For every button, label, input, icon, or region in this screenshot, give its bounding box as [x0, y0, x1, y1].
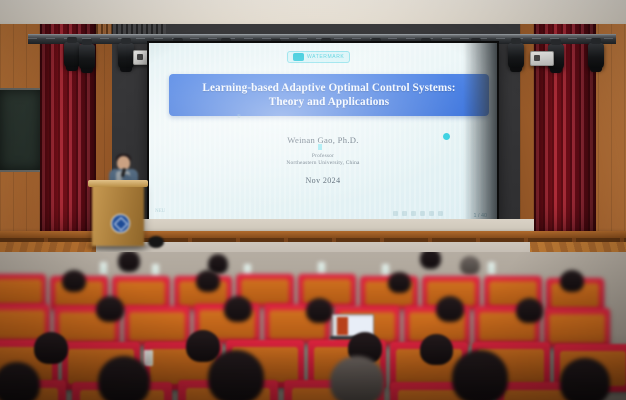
audience-head: [98, 356, 150, 400]
audience-head: [560, 358, 610, 400]
slide-role-line-1: Professor: [312, 153, 334, 159]
audience-head: [196, 270, 220, 292]
audience-area: [0, 252, 626, 400]
audience-head: [224, 296, 252, 322]
slide-title-line-1: Learning-based Adaptive Optimal Control …: [175, 81, 483, 95]
slide-role-line-2: Northeastern University, China: [286, 160, 359, 166]
podium: [92, 184, 144, 246]
projection-screen: WATERMARK Learning-based Adaptive Optima…: [149, 43, 497, 221]
audience-head: [186, 330, 220, 362]
stage-lamp-icon: [79, 44, 95, 70]
presentation-toolbar[interactable]: [393, 211, 443, 216]
cyan-pointer-dot: [443, 133, 450, 140]
lecture-hall-photo: WATERMARK Learning-based Adaptive Optima…: [0, 0, 626, 400]
audience-head: [34, 332, 68, 364]
audience-head: [330, 356, 384, 400]
watermark-label: WATERMARK: [307, 54, 344, 60]
audience-head: [420, 334, 453, 365]
audience-head: [62, 270, 86, 292]
stage-lamp-icon: [118, 43, 134, 69]
audience-head: [436, 296, 464, 322]
seat: [0, 274, 46, 308]
audience-head: [306, 298, 333, 323]
seat: [124, 306, 190, 346]
audience-head: [118, 252, 140, 272]
toolbar-pointer-icon[interactable]: [411, 211, 416, 216]
audience-head: [452, 350, 508, 400]
copyright-glyph: ©: [237, 115, 241, 120]
projection-screen-frame: WATERMARK Learning-based Adaptive Optima…: [147, 41, 499, 223]
audience-head: [208, 350, 264, 400]
slide-date: Nov 2024: [149, 176, 497, 185]
water-bottle: [144, 350, 153, 366]
slide-watermark: WATERMARK: [287, 51, 350, 63]
toolbar-fullscreen-icon[interactable]: [438, 211, 443, 216]
slide-title-line-2: Theory and Applications: [175, 95, 483, 109]
toolbar-prev-icon[interactable]: [393, 211, 398, 216]
screen-shadow-right: [463, 43, 497, 221]
toolbar-next-icon[interactable]: [420, 211, 425, 216]
stage-lamp-icon: [588, 43, 604, 69]
slide-affiliation: Professor Northeastern University, China: [149, 153, 497, 168]
screen-glare: [149, 43, 497, 221]
audience-head: [420, 252, 441, 269]
podium-top-surface: [88, 180, 148, 187]
water-bottle: [100, 262, 107, 275]
cursor-highlight: [318, 144, 322, 150]
slide-title-banner: Learning-based Adaptive Optimal Control …: [169, 74, 489, 116]
ceiling-projector: [530, 51, 554, 66]
toolbar-pen-icon[interactable]: [402, 211, 407, 216]
blackboard-panel: [0, 88, 42, 172]
water-bottle: [488, 262, 495, 275]
watermark-badge-icon: [293, 53, 304, 61]
audience-head: [516, 298, 543, 323]
audience-head: [96, 296, 124, 322]
audience-head: [560, 270, 584, 292]
stage-lamp-icon: [64, 42, 80, 68]
audience-head: [388, 272, 411, 293]
floor-speaker: [148, 236, 164, 248]
university-emblem-icon: [111, 214, 130, 233]
stage-lamp-icon: [508, 43, 524, 69]
slide-corner-logo: NEU: [155, 209, 165, 214]
seat: [544, 308, 610, 348]
toolbar-menu-icon[interactable]: [429, 211, 434, 216]
audience-head: [460, 256, 480, 275]
